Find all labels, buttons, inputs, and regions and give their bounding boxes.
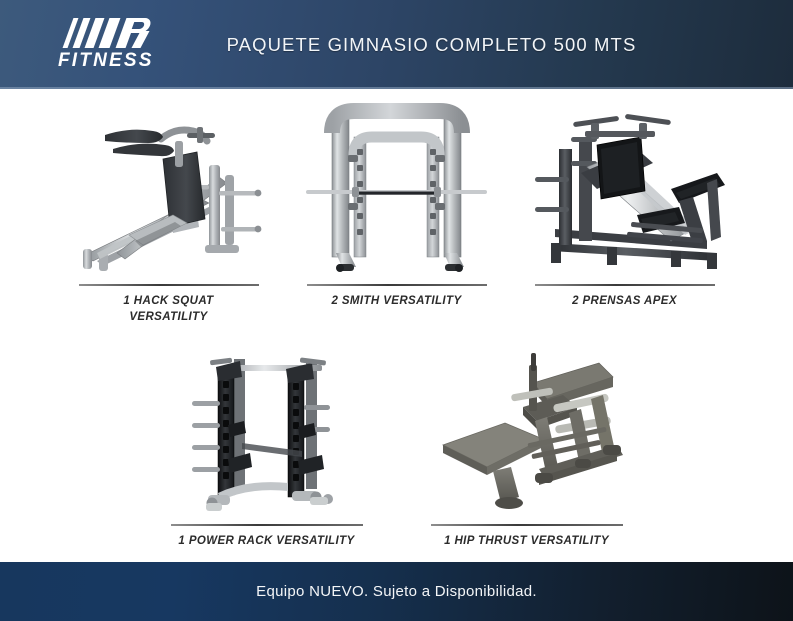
card-divider [535,284,715,286]
leg-press-machine-icon [511,103,739,275]
product-card-smith[interactable]: 2 SMITH VERSATILITY [283,103,511,325]
availability-note: Equipo NUEVO. Sujeto a Disponibilidad. [256,583,537,600]
smith-machine-icon [283,103,511,275]
power-rack-machine-icon [137,347,397,515]
product-caption: 1 POWER RACK VERSATILITY [178,533,354,549]
page-header: FITNESS PAQUETE GIMNASIO COMPLETO 500 MT… [0,0,793,89]
product-row-bottom: 1 POWER RACK VERSATILITY [0,325,793,549]
hack-squat-machine-icon [55,103,283,275]
product-card-power-rack[interactable]: 1 POWER RACK VERSATILITY [137,347,397,549]
page-title: PAQUETE GIMNASIO COMPLETO 500 MTS [0,0,793,89]
card-divider [307,284,487,286]
catalog-page: FITNESS PAQUETE GIMNASIO COMPLETO 500 MT… [0,0,793,621]
product-card-hip-thrust[interactable]: 1 HIP THRUST VERSATILITY [397,347,657,549]
card-divider [171,524,363,526]
card-divider [431,524,623,526]
product-grid: 1 HACK SQUAT VERSATILITY [0,89,793,562]
product-card-hack-squat[interactable]: 1 HACK SQUAT VERSATILITY [55,103,283,325]
product-caption: 2 SMITH VERSATILITY [331,293,461,309]
product-card-prensas-apex[interactable]: 2 PRENSAS APEX [511,103,739,325]
product-caption: 2 PRENSAS APEX [572,293,677,309]
product-caption: 1 HIP THRUST VERSATILITY [444,533,609,549]
product-row-top: 1 HACK SQUAT VERSATILITY [0,89,793,325]
page-footer: Equipo NUEVO. Sujeto a Disponibilidad. [0,562,793,621]
hip-thrust-machine-icon [397,347,657,515]
card-divider [79,284,259,286]
product-caption: 1 HACK SQUAT VERSATILITY [123,293,213,325]
